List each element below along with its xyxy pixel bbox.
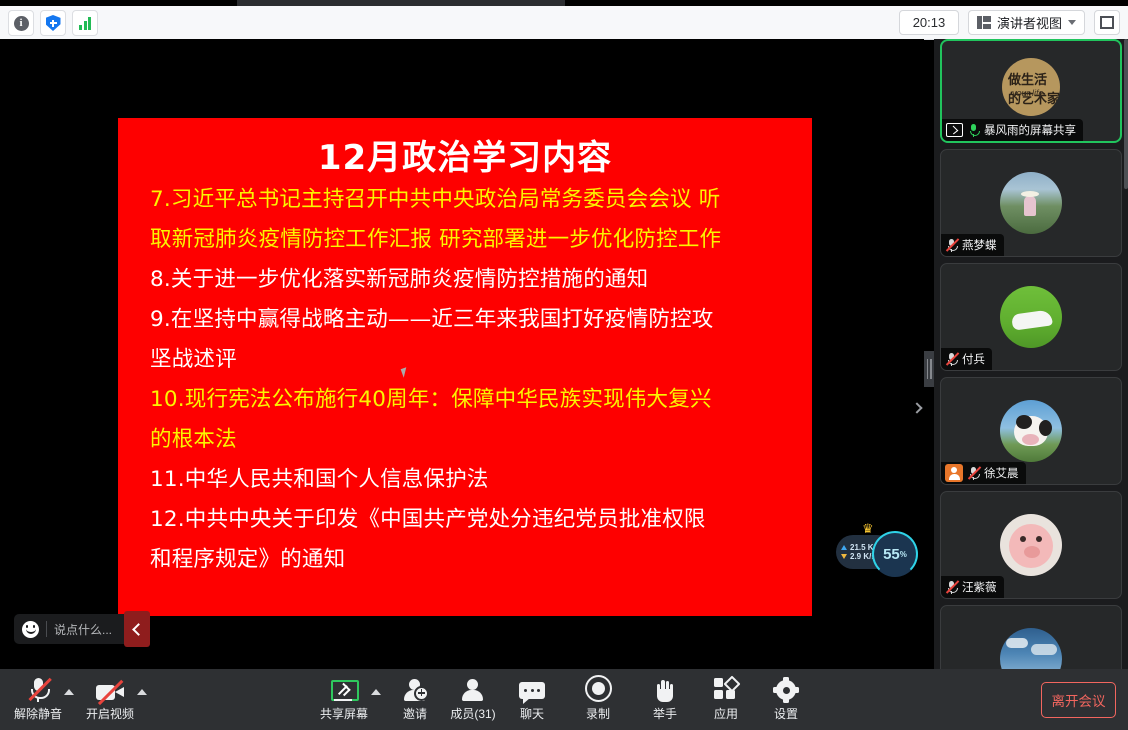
leave-meeting-button[interactable]: 离开会议 <box>1041 682 1116 718</box>
invite-label: 邀请 <box>403 705 427 722</box>
participants-label: 成员(31) <box>450 705 495 722</box>
host-badge-icon <box>945 464 963 482</box>
participant-tile[interactable]: 汪紫薇 <box>940 491 1122 599</box>
slide-line: 坚战述评 <box>150 340 790 380</box>
quick-chat-placeholder: 说点什么... <box>54 621 112 638</box>
chat-label: 聊天 <box>520 705 544 722</box>
panel-scrollbar[interactable] <box>1124 39 1128 669</box>
quick-chat-bar[interactable]: 说点什么... <box>14 614 132 644</box>
arrow-up-icon <box>841 545 847 550</box>
raise-hand-button[interactable]: 举手 <box>633 676 697 722</box>
slide-line: 10.现行宪法公布施行40周年：保障中华民族实现伟大复兴 <box>150 380 790 420</box>
audio-options-chevron-icon[interactable] <box>64 689 74 695</box>
slide-line: 11.中华人民共和国个人信息保护法 <box>150 460 790 500</box>
mic-muted-icon <box>967 466 980 480</box>
view-selector-label: 演讲者视图 <box>997 13 1062 32</box>
slide-line: 8.关于进一步优化落实新冠肺炎疫情防控措施的通知 <box>150 260 790 300</box>
avatar <box>1000 514 1062 576</box>
crown-icon: ♛ <box>862 522 874 535</box>
share-screen-label: 共享屏幕 <box>320 705 368 722</box>
network-signal-button[interactable] <box>72 10 98 36</box>
cpu-usage-suffix: % <box>900 550 907 559</box>
shared-screen-stage[interactable]: 12月政治学习内容 7.习近平总书记主持召开中共中央政治局常务委员会会议 听 取… <box>0 39 924 669</box>
invite-button[interactable]: 邀请 <box>383 676 447 722</box>
participant-name: 付兵 <box>962 351 985 367</box>
info-icon: i <box>14 16 29 31</box>
participant-tile[interactable]: 付兵 <box>940 263 1122 371</box>
panel-drag-handle[interactable] <box>924 351 934 387</box>
chevron-down-icon <box>1068 20 1076 25</box>
security-shield-icon <box>46 15 61 31</box>
slide-body: 7.习近平总书记主持召开中共中央政治局常务委员会会议 听 取新冠肺炎疫情防控工作… <box>150 180 790 580</box>
top-bar-right-controls: 20:13 演讲者视图 <box>899 10 1120 35</box>
avatar-image <box>1000 628 1062 669</box>
avatar <box>1000 286 1062 348</box>
participants-icon <box>460 676 486 702</box>
record-label: 录制 <box>586 705 610 722</box>
mic-muted-icon <box>27 676 49 702</box>
divider <box>46 621 47 637</box>
participant-namebar: 燕梦蝶 <box>941 234 1004 256</box>
apps-button[interactable]: 应用 <box>694 676 758 722</box>
avatar <box>1000 628 1062 669</box>
info-icon-button[interactable]: i <box>8 10 34 36</box>
shared-slide: 12月政治学习内容 7.习近平总书记主持召开中共中央政治局常务委员会会议 听 取… <box>118 118 812 616</box>
participants-panel[interactable]: 做生活的艺术家 your life 暴风雨的屏幕共享 燕梦蝶 <box>934 39 1128 669</box>
gear-icon <box>774 676 798 702</box>
share-screen-button[interactable]: 共享屏幕 <box>312 676 376 722</box>
participant-tile[interactable]: 燕梦蝶 <box>940 149 1122 257</box>
view-selector[interactable]: 演讲者视图 <box>968 10 1085 35</box>
avatar-image: 做生活的艺术家 your life <box>1002 58 1060 116</box>
meeting-toolbar: 解除静音 开启视频 共享屏幕 邀请 成员(31) <box>0 669 1128 730</box>
participant-tile-partial[interactable] <box>940 605 1122 669</box>
raise-hand-label: 举手 <box>653 705 677 722</box>
avatar: 做生活的艺术家 your life <box>1002 58 1060 116</box>
avatar-image <box>1000 172 1062 234</box>
chevron-left-icon <box>132 623 145 636</box>
participant-tile-host[interactable]: 徐艾晨 <box>940 377 1122 485</box>
panel-expand-button[interactable] <box>910 399 924 417</box>
settings-label: 设置 <box>774 705 798 722</box>
arrow-down-icon <box>841 554 847 559</box>
avatar-image <box>1000 514 1062 576</box>
camera-off-icon <box>96 676 124 702</box>
record-button[interactable]: 录制 <box>566 676 630 722</box>
top-bar: i 20:13 演讲者视图 <box>0 6 1128 40</box>
mic-muted-icon <box>945 580 958 594</box>
cpu-usage-ring: 55 % <box>872 531 918 577</box>
screen-share-icon <box>946 123 963 137</box>
participant-namebar: 暴风雨的屏幕共享 <box>942 119 1083 141</box>
top-bar-left-icons: i <box>8 10 98 36</box>
share-screen-icon <box>329 676 359 702</box>
start-video-button[interactable]: 开启视频 <box>78 676 142 722</box>
mic-active-icon <box>967 123 980 137</box>
slide-line: 9.在坚持中赢得战略主动——近三年来我国打好疫情防控攻 <box>150 300 790 340</box>
settings-button[interactable]: 设置 <box>754 676 818 722</box>
fullscreen-button[interactable] <box>1094 10 1120 35</box>
slide-title: 12月政治学习内容 <box>118 130 812 179</box>
network-stats-widget[interactable]: ♛ 21.5 K/s 2.9 K/s 55 % <box>836 531 918 573</box>
mic-muted-icon <box>945 238 958 252</box>
record-icon <box>585 676 612 702</box>
mic-muted-icon <box>945 352 958 366</box>
slide-line: 的根本法 <box>150 420 790 460</box>
slide-line: 12.中共中央关于印发《中国共产党处分违纪党员批准权限 <box>150 500 790 540</box>
chevron-right-icon <box>911 402 922 413</box>
chat-collapse-button[interactable] <box>124 611 150 647</box>
chat-button[interactable]: 聊天 <box>500 676 564 722</box>
participant-namebar: 汪紫薇 <box>941 576 1004 598</box>
apps-icon <box>714 676 738 702</box>
clock: 20:13 <box>899 10 959 35</box>
video-options-chevron-icon[interactable] <box>137 689 147 695</box>
participants-button[interactable]: 成员(31) <box>441 676 505 722</box>
security-shield-button[interactable] <box>40 10 66 36</box>
avatar <box>1000 172 1062 234</box>
participant-name: 燕梦蝶 <box>962 237 997 253</box>
avatar-image <box>1000 400 1062 462</box>
avatar-image <box>1000 286 1062 348</box>
avatar <box>1000 400 1062 462</box>
participant-namebar: 徐艾晨 <box>941 462 1026 484</box>
cpu-usage-value: 55 <box>883 546 900 563</box>
participant-name: 徐艾晨 <box>984 465 1019 481</box>
slide-line: 取新冠肺炎疫情防控工作汇报 研究部署进一步优化防控工作 <box>150 220 790 260</box>
raise-hand-icon <box>654 676 676 702</box>
share-options-chevron-icon[interactable] <box>371 689 381 695</box>
unmute-button[interactable]: 解除静音 <box>6 676 70 722</box>
participant-name: 汪紫薇 <box>962 579 997 595</box>
zoom-meeting-window: i 20:13 演讲者视图 12月政治学习内容 7.习 <box>0 0 1128 730</box>
network-signal-icon <box>79 17 91 30</box>
invite-icon <box>402 676 428 702</box>
participant-name: 暴风雨的屏幕共享 <box>984 122 1076 138</box>
apps-label: 应用 <box>714 705 738 722</box>
participant-namebar: 付兵 <box>941 348 992 370</box>
unmute-label: 解除静音 <box>14 705 62 722</box>
smiley-icon[interactable] <box>22 621 39 638</box>
participant-tile-sharing[interactable]: 做生活的艺术家 your life 暴风雨的屏幕共享 <box>940 39 1122 143</box>
chat-icon <box>519 676 545 702</box>
slide-line: 和程序规定》的通知 <box>150 540 790 580</box>
start-video-label: 开启视频 <box>86 705 134 722</box>
speaker-view-icon <box>977 16 991 29</box>
slide-line: 7.习近平总书记主持召开中共中央政治局常务委员会会议 听 <box>150 180 790 220</box>
